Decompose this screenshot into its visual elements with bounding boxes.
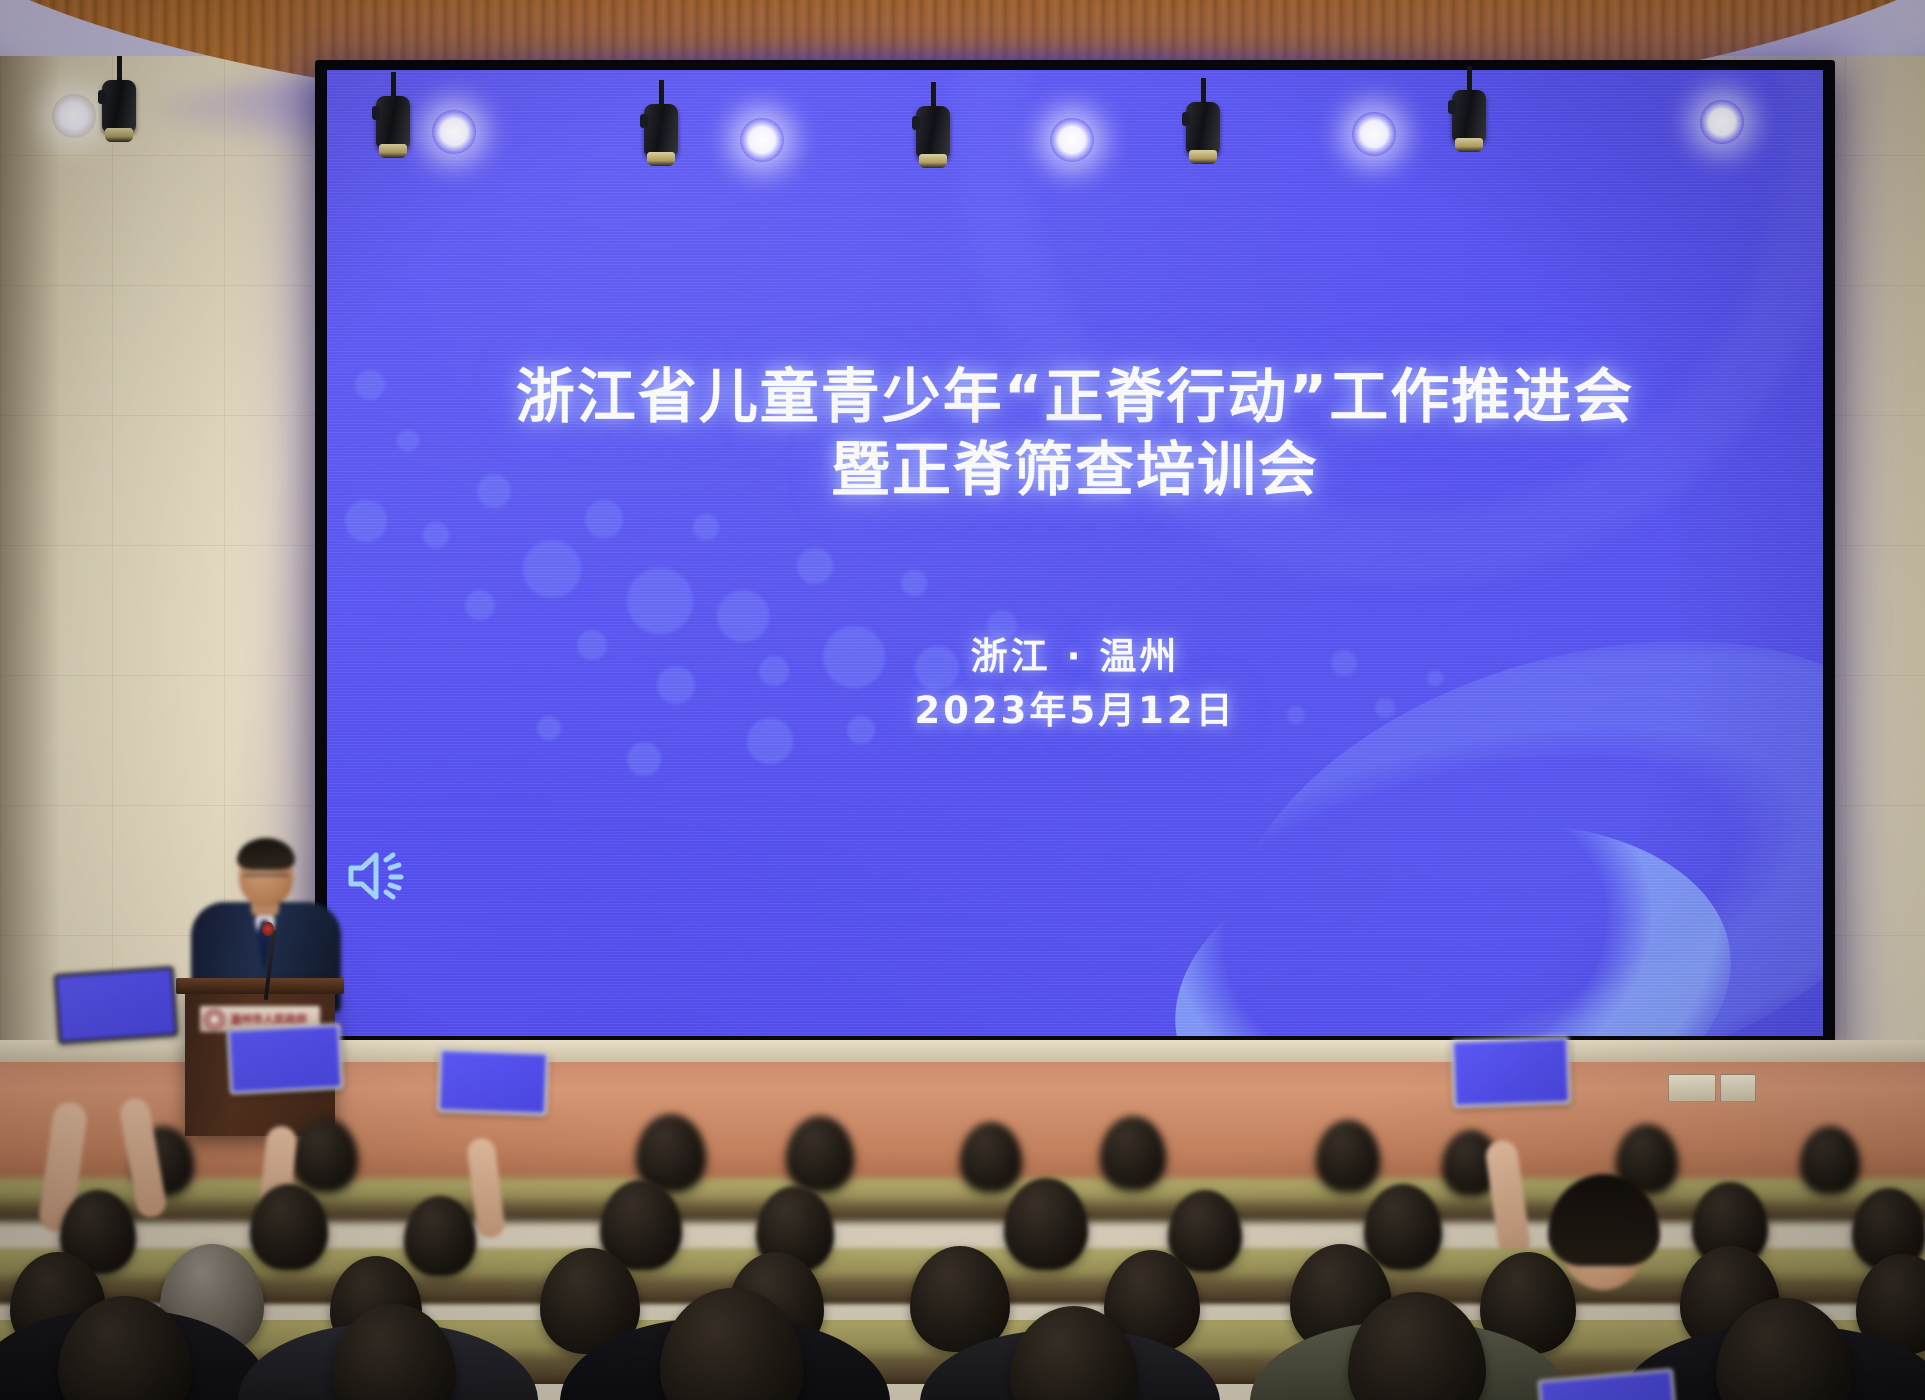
speaker-volume-icon bbox=[347, 848, 409, 904]
slide-title-line1: 浙江省儿童青少年“正脊行动”工作推进会 bbox=[516, 362, 1635, 431]
led-screen: 浙江省儿童青少年“正脊行动”工作推进会 暨正脊筛查培训会 浙江 · 温州 202… bbox=[327, 70, 1823, 1036]
auditorium-scene: 浙江省儿童青少年“正脊行动”工作推进会 暨正脊筛查培训会 浙江 · 温州 202… bbox=[0, 0, 1925, 1400]
stage-spotlight bbox=[1448, 66, 1490, 162]
bubble-decoration bbox=[627, 568, 693, 634]
stage-spotlight bbox=[372, 72, 414, 168]
bubble-decoration bbox=[423, 522, 449, 548]
slide-subtitle: 浙江 · 温州 2023年5月12日 bbox=[327, 630, 1823, 737]
bubble-decoration bbox=[523, 540, 581, 598]
national-emblem-icon bbox=[204, 1009, 225, 1030]
led-screen-frame: 浙江省儿童青少年“正脊行动”工作推进会 暨正脊筛查培训会 浙江 · 温州 202… bbox=[315, 60, 1835, 1050]
microphone-head bbox=[262, 922, 274, 936]
slide-date: 2023年5月12日 bbox=[327, 684, 1823, 738]
audience-phone bbox=[1451, 1036, 1571, 1108]
ceiling-downlight bbox=[52, 94, 96, 138]
bubble-decoration bbox=[693, 514, 719, 540]
audience-area bbox=[0, 1160, 1925, 1400]
bubble-decoration bbox=[627, 742, 661, 776]
podium-top bbox=[176, 978, 344, 994]
wall-outlet bbox=[1720, 1074, 1756, 1102]
audience-phone bbox=[226, 1023, 343, 1095]
ceiling-downlight bbox=[1050, 118, 1094, 162]
stage-spotlight bbox=[1182, 78, 1224, 174]
left-wall-shadow bbox=[0, 56, 60, 1066]
ceiling-downlight bbox=[432, 110, 476, 154]
bubble-decoration bbox=[797, 548, 833, 584]
bubble-decoration bbox=[465, 590, 495, 620]
slide-title: 浙江省儿童青少年“正脊行动”工作推进会 暨正脊筛查培训会 bbox=[327, 360, 1823, 506]
wall-outlet bbox=[1668, 1074, 1716, 1102]
bubble-decoration bbox=[901, 570, 927, 596]
ceiling-downlight bbox=[1700, 100, 1744, 144]
audience-phone bbox=[54, 966, 179, 1044]
stage-spotlight bbox=[98, 56, 140, 152]
ceiling-downlight bbox=[1352, 112, 1396, 156]
slide-title-line2: 暨正脊筛查培训会 bbox=[327, 433, 1823, 506]
ceiling-downlight bbox=[740, 118, 784, 162]
stage-spotlight bbox=[912, 82, 954, 178]
audience-phone bbox=[437, 1048, 549, 1116]
slide-location: 浙江 · 温州 bbox=[327, 630, 1823, 684]
stage-spotlight bbox=[640, 80, 682, 176]
